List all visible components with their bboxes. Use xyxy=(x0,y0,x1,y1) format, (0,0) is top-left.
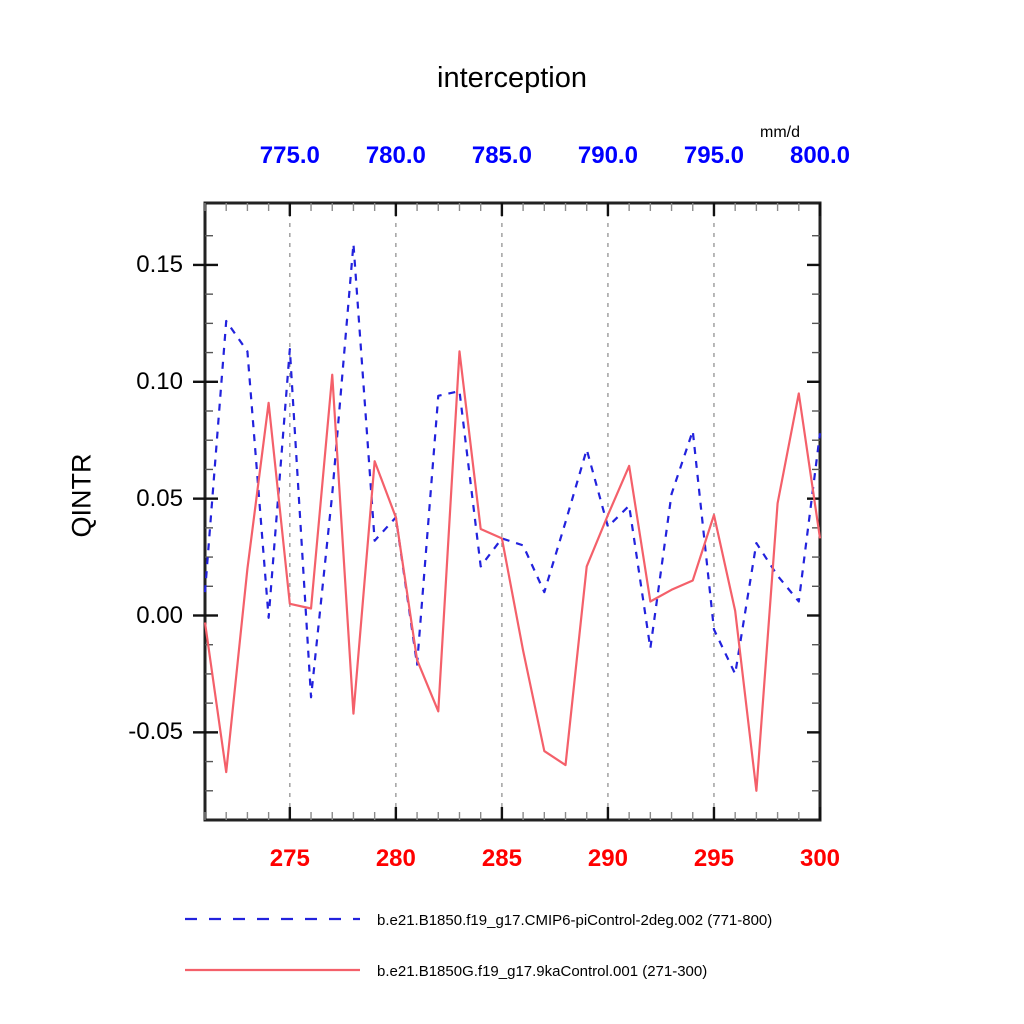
legend-label-0: b.e21.B1850.f19_g17.CMIP6-piControl-2deg… xyxy=(377,912,772,929)
data-series-line-1 xyxy=(205,351,820,790)
grid-lines xyxy=(290,203,714,820)
chart-figure: interception mm/d QINTR 775.0780.0785.07… xyxy=(0,0,1024,1024)
data-series-group xyxy=(205,244,820,791)
data-series-line-0 xyxy=(205,244,820,697)
legend-label-1: b.e21.B1850G.f19_g17.9kaControl.001 (271… xyxy=(377,963,707,980)
axis-ticks xyxy=(193,203,820,820)
plot-canvas xyxy=(0,0,1024,1024)
plot-axes xyxy=(205,203,820,820)
plot-frame xyxy=(205,203,820,820)
legend-line-samples xyxy=(185,919,360,970)
